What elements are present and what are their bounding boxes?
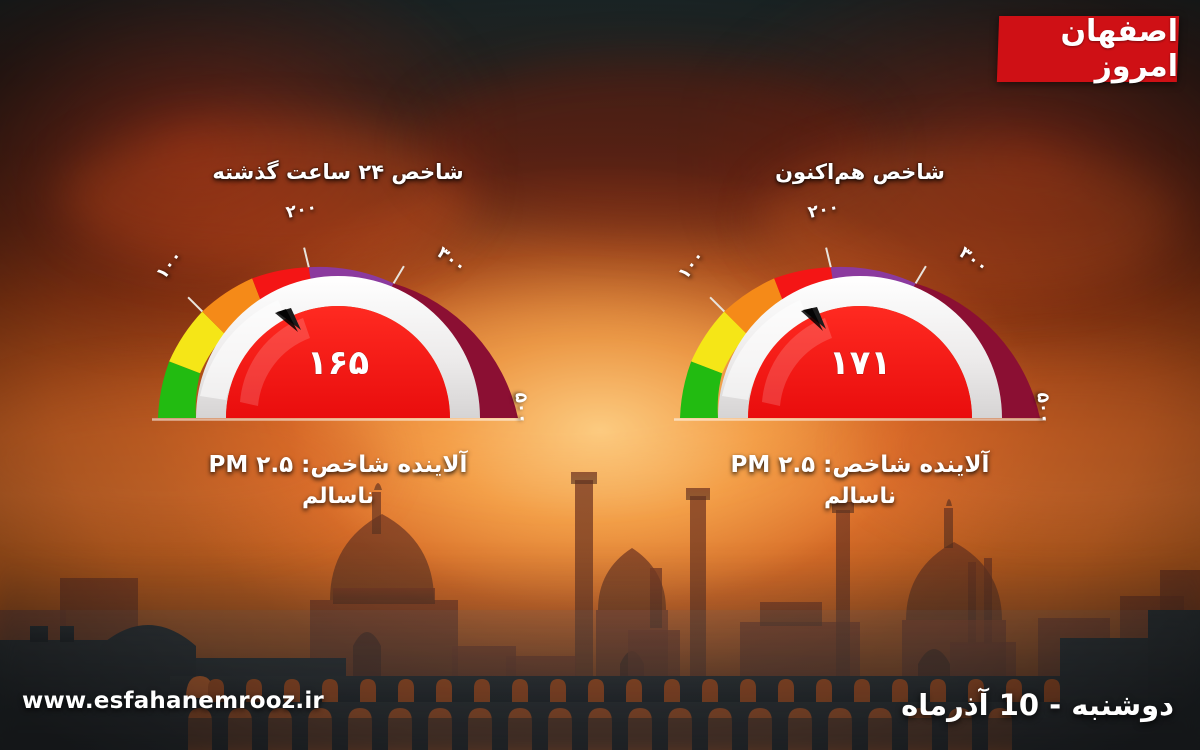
brand-logo-text: اصفهان امروز: [998, 14, 1178, 84]
gauge-tick-label-500: ۵۰۰: [1033, 392, 1055, 424]
gauge-pollutant-label: آلاینده شاخص: PM ۲.۵: [128, 452, 548, 478]
gauge-title: شاخص هم‌اکنون: [650, 160, 1070, 184]
gauge-value: ۱۶۵: [307, 343, 369, 383]
gauge-pollutant-label: آلاینده شاخص: PM ۲.۵: [650, 452, 1070, 478]
gauge-status-label: ناسالم: [128, 484, 548, 509]
gauge-dial: ۱۷۱: [650, 196, 1070, 456]
gauge-title: شاخص ۲۴ ساعت گذشته: [128, 160, 548, 184]
gauge-tick-label-500: ۵۰۰: [511, 392, 533, 424]
gauge-now: شاخص هم‌اکنون: [650, 160, 1070, 520]
infographic-canvas: اصفهان امروز شاخص ۲۴ ساعت گذشته: [0, 0, 1200, 750]
brand-logo[interactable]: اصفهان امروز: [997, 16, 1179, 82]
gauge-dial: ۱۶۵: [128, 196, 548, 456]
gauge-value: ۱۷۱: [829, 343, 891, 383]
gauge-past-24h: شاخص ۲۴ ساعت گذشته: [128, 160, 548, 520]
website-url[interactable]: www.esfahanemrooz.ir: [22, 688, 324, 714]
date-label: دوشنبه - 10 آذرماه: [901, 688, 1174, 722]
gauge-status-label: ناسالم: [650, 484, 1070, 509]
